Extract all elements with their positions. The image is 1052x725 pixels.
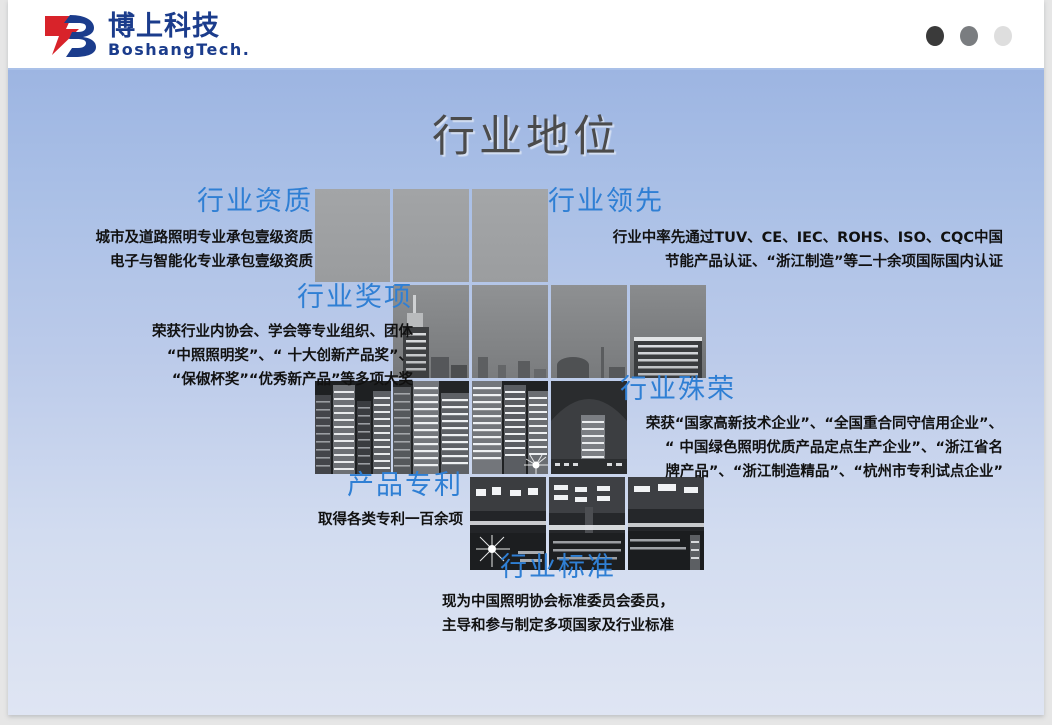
photo-tile-sky-3 xyxy=(472,189,548,282)
section-leading-heading: 行业领先 xyxy=(548,186,1003,217)
section-standards-heading: 行业标准 xyxy=(398,552,718,583)
section-leading-line-2: 节能产品认证、“浙江制造”等二十余项国际国内认证 xyxy=(548,251,1003,275)
section-honors-line-1: 荣获“国家高新技术企业”、“全国重合同守信用企业”、 xyxy=(598,413,1003,437)
photo-tile-tower-1 xyxy=(315,381,391,474)
slide-canvas: 博上科技 BoshangTech. 行业地位 xyxy=(8,0,1044,715)
photo-tile-skyline-4 xyxy=(630,285,706,378)
dot-dark-icon[interactable] xyxy=(926,26,944,46)
header-dots xyxy=(926,26,1012,46)
section-awards-heading: 行业奖项 xyxy=(38,282,413,313)
section-honors-heading: 行业殊荣 xyxy=(620,374,1003,405)
logo-chinese-name: 博上科技 xyxy=(108,13,250,40)
brand-logo[interactable]: 博上科技 BoshangTech. xyxy=(42,10,250,60)
page-title: 行业地位 xyxy=(8,102,1044,164)
section-honors-line-2: “ 中国绿色照明优质产品定点生产企业”、“浙江省名 xyxy=(598,437,1003,461)
dot-mid-icon[interactable] xyxy=(960,26,978,46)
section-awards-line-2: “中照照明奖”、“ 十大创新产品奖”、 xyxy=(38,345,413,369)
section-patents-line-1: 取得各类专利一百余项 xyxy=(198,509,463,533)
section-awards-line-1: 荣获行业内协会、学会等专业组织、团体 xyxy=(38,321,413,345)
header-bar: 博上科技 BoshangTech. xyxy=(8,0,1044,70)
section-leading: 行业领先 行业中率先通过TUV、CE、IEC、ROHS、ISO、CQC中国 节能… xyxy=(548,186,1003,275)
section-standards: 行业标准 现为中国照明协会标准委员会委员， 主导和参与制定多项国家及行业标准 xyxy=(398,552,718,639)
section-patents: 产品专利 取得各类专利一百余项 xyxy=(198,470,463,533)
section-awards-line-3: “保俶杯奖”“优秀新产品”等多项大奖 xyxy=(38,369,413,393)
section-qualification-line-2: 电子与智能化专业承包壹级资质 xyxy=(28,251,313,275)
photo-tile-tower-2 xyxy=(393,381,469,474)
slide-body: 行业地位 xyxy=(8,70,1044,715)
dot-light-icon[interactable] xyxy=(994,26,1012,46)
photo-tile-sky-2 xyxy=(393,189,469,282)
photo-tile-skyline-2 xyxy=(472,285,548,378)
section-leading-line-1: 行业中率先通过TUV、CE、IEC、ROHS、ISO、CQC中国 xyxy=(548,227,1003,251)
section-qualification-heading: 行业资质 xyxy=(28,186,313,217)
logo-english-name: BoshangTech. xyxy=(108,42,250,58)
section-qualification-line-1: 城市及道路照明专业承包壹级资质 xyxy=(28,227,313,251)
section-patents-heading: 产品专利 xyxy=(198,470,463,501)
boshang-logo-icon xyxy=(42,12,102,58)
photo-tile-tower-3 xyxy=(472,381,548,474)
photo-tile-sky-1 xyxy=(315,189,390,282)
section-honors-line-3: 牌产品”、“浙江制造精品”、“杭州市专利试点企业” xyxy=(598,461,1003,485)
slide-root: 博上科技 BoshangTech. 行业地位 xyxy=(0,0,1052,725)
section-standards-line-2: 主导和参与制定多项国家及行业标准 xyxy=(398,615,718,639)
section-qualification: 行业资质 城市及道路照明专业承包壹级资质 电子与智能化专业承包壹级资质 xyxy=(28,186,313,275)
section-awards: 行业奖项 荣获行业内协会、学会等专业组织、团体 “中照照明奖”、“ 十大创新产品… xyxy=(38,282,413,393)
section-standards-line-1: 现为中国照明协会标准委员会委员， xyxy=(398,591,718,615)
photo-tile-skyline-3 xyxy=(551,285,627,378)
section-honors: 行业殊荣 荣获“国家高新技术企业”、“全国重合同守信用企业”、 “ 中国绿色照明… xyxy=(598,374,1003,485)
